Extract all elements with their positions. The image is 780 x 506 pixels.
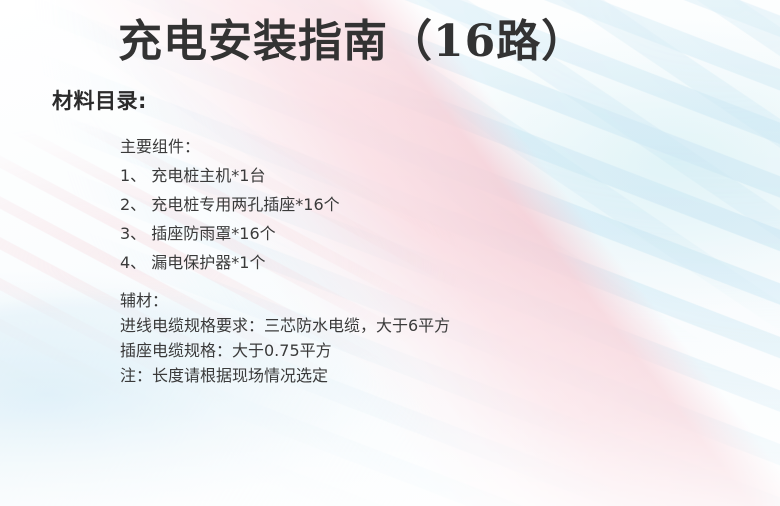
slide-content: 充电安装指南（16路） 材料目录: 主要组件： 1、 充电桩主机*1台 2、 充… bbox=[0, 0, 780, 506]
list-item: 2、 充电桩专用两孔插座*16个 bbox=[120, 190, 340, 219]
list-item: 注：长度请根据现场情况选定 bbox=[120, 363, 450, 388]
list-item: 插座电缆规格：大于0.75平方 bbox=[120, 338, 450, 363]
list-item: 3、 插座防雨罩*16个 bbox=[120, 219, 340, 248]
section-label-materials: 材料目录: bbox=[52, 85, 147, 115]
slide-canvas: 充电安装指南（16路） 材料目录: 主要组件： 1、 充电桩主机*1台 2、 充… bbox=[0, 0, 780, 506]
list-item: 1、 充电桩主机*1台 bbox=[120, 161, 340, 190]
page-title: 充电安装指南（16路） bbox=[118, 12, 586, 71]
main-components-block: 主要组件： 1、 充电桩主机*1台 2、 充电桩专用两孔插座*16个 3、 插座… bbox=[120, 132, 340, 277]
auxiliary-materials-block: 辅材： 进线电缆规格要求：三芯防水电缆，大于6平方 插座电缆规格：大于0.75平… bbox=[120, 288, 450, 388]
main-components-heading: 主要组件： bbox=[120, 132, 340, 161]
auxiliary-materials-heading: 辅材： bbox=[120, 288, 450, 313]
list-item: 4、 漏电保护器*1个 bbox=[120, 248, 340, 277]
list-item: 进线电缆规格要求：三芯防水电缆，大于6平方 bbox=[120, 313, 450, 338]
